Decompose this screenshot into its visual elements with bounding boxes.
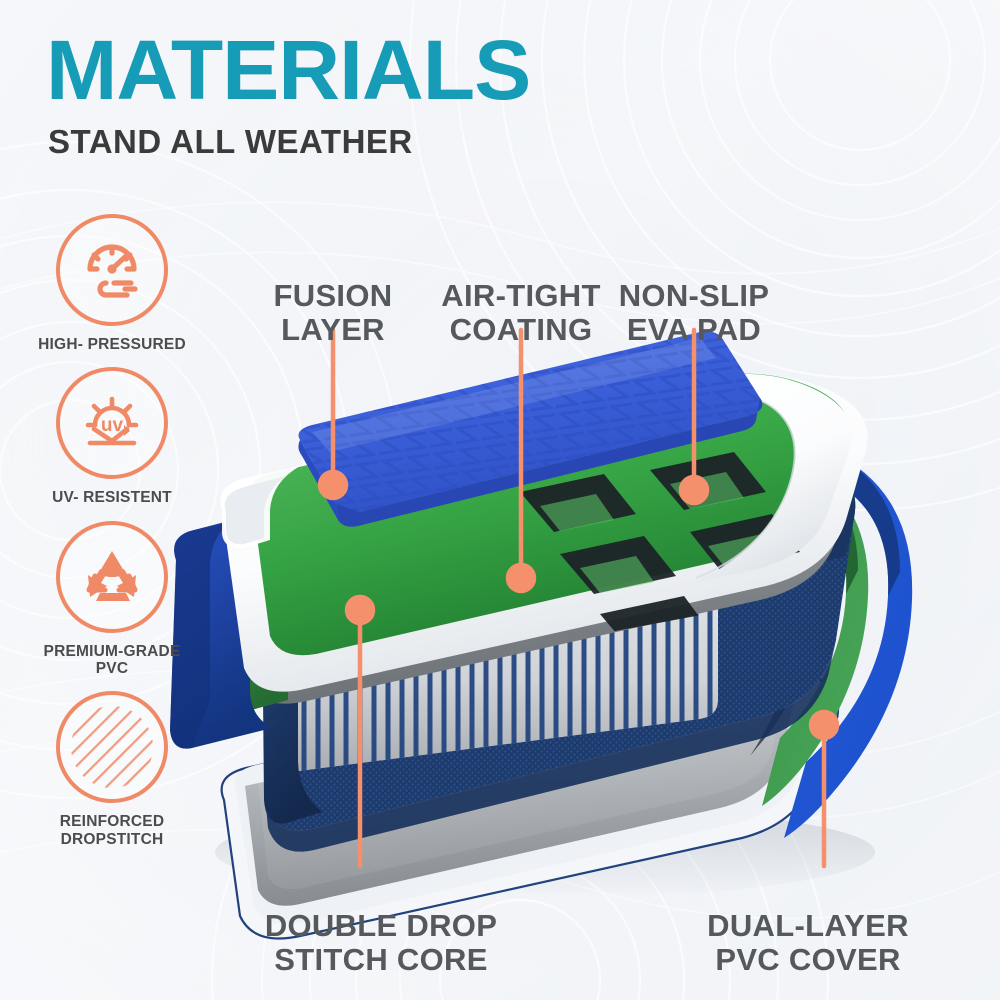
callout-non-slip-eva-pad: NON-SLIP EVA PAD <box>604 246 784 346</box>
feature-item-premium-grade-pvc[interactable]: PREMIUM-GRADE PVC <box>34 521 190 678</box>
callout-double-drop-stitch-core: DOUBLE DROP STITCH CORE <box>256 876 506 976</box>
callout-label: FUSION LAYER <box>274 278 393 346</box>
callout-label: AIR-TIGHT COATING <box>441 278 600 346</box>
feature-item-high-pressured[interactable]: HIGH- PRESSURED <box>34 214 190 353</box>
leader-dot-fusion-layer <box>320 472 346 498</box>
infographic-canvas: MATERIALS STAND ALL WEATHER <box>0 0 1000 1000</box>
feature-label: HIGH- PRESSURED <box>34 336 190 353</box>
svg-text:uv: uv <box>101 415 124 436</box>
leader-dot-dual-layer-pvc-cover <box>811 712 837 738</box>
uv-shield-icon: uv <box>80 391 144 455</box>
pressure-gauge-icon <box>81 239 143 301</box>
feature-item-reinforced-dropstitch[interactable]: REINFORCED DROPSTITCH <box>34 691 190 848</box>
feature-list: HIGH- PRESSURED uv <box>34 214 190 862</box>
callout-label: DUAL-LAYER PVC COVER <box>707 908 909 976</box>
feature-icon-wrap <box>56 214 168 326</box>
feature-icon-wrap <box>56 521 168 633</box>
callout-air-tight-coating: AIR-TIGHT COATING <box>432 246 610 346</box>
dropstitch-hatch-icon <box>69 704 155 790</box>
feature-icon-wrap <box>56 691 168 803</box>
recycle-icon <box>80 545 144 609</box>
callout-label: DOUBLE DROP STITCH CORE <box>265 908 497 976</box>
callout-dual-layer-pvc-cover: DUAL-LAYER PVC COVER <box>694 876 922 976</box>
feature-label: UV- RESISTENT <box>34 489 190 506</box>
feature-icon-wrap: uv <box>56 367 168 479</box>
callout-label: NON-SLIP EVA PAD <box>619 278 770 346</box>
feature-label: REINFORCED DROPSTITCH <box>34 813 190 848</box>
feature-item-uv-resistent[interactable]: uv UV- RESISTENT <box>34 367 190 506</box>
leader-dot-air-tight-coating <box>508 565 534 591</box>
callout-fusion-layer: FUSION LAYER <box>268 246 398 346</box>
leader-dot-double-drop-stitch-core <box>347 597 373 623</box>
leader-dot-non-slip-eva-pad <box>681 477 707 503</box>
feature-label: PREMIUM-GRADE PVC <box>34 643 190 678</box>
